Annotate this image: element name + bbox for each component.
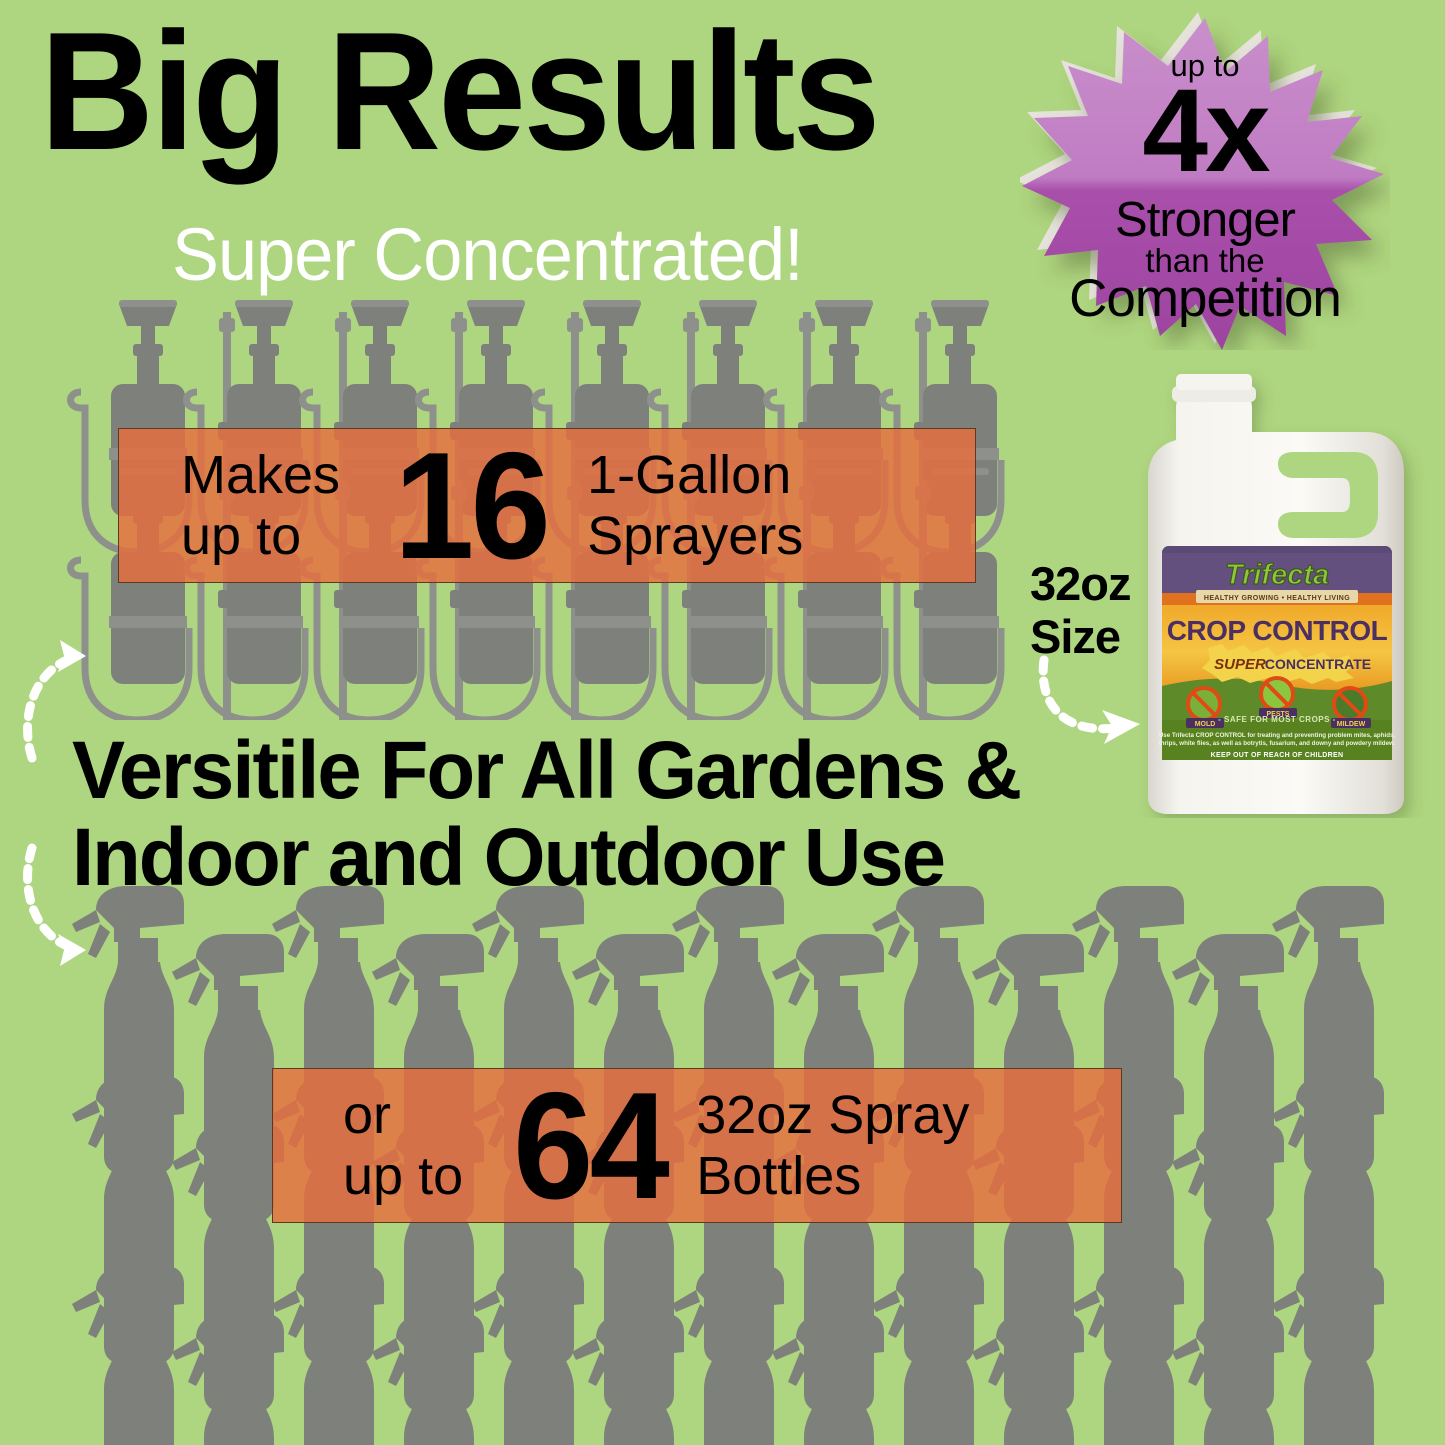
- banner-bottles-unit-line1: 32oz Spray: [696, 1085, 969, 1145]
- mid-headline-line1: Versitile For All Gardens &: [72, 728, 1020, 815]
- dashed-arrow-up-icon: [16, 636, 96, 766]
- dashed-arrow-down-icon: [16, 840, 96, 970]
- banner-sprayers-unit: 1-Gallon Sprayers: [587, 445, 803, 566]
- label-super: SUPER: [1214, 656, 1266, 673]
- label-badge-pests: PESTS: [1259, 678, 1297, 718]
- mid-headline-line2: Indoor and Outdoor Use: [72, 815, 1020, 902]
- product-bottle: Trifecta HEALTHY GROWING • HEALTHY LIVIN…: [1128, 368, 1428, 818]
- banner-bottles-unit-line2: Bottles: [696, 1146, 861, 1206]
- label-product-name: CROP CONTROL: [1167, 615, 1388, 646]
- label-warning: KEEP OUT OF REACH OF CHILDREN: [1211, 752, 1344, 759]
- svg-text:MOLD: MOLD: [1195, 721, 1216, 728]
- banner-sprayers-unit-line2: Sprayers: [587, 506, 803, 566]
- label-directions-2: thrips, white flies, as well as botrytis…: [1159, 740, 1396, 747]
- banner-bottles-line1: or: [343, 1085, 463, 1145]
- banner-sprayers-line2: up to: [181, 506, 340, 566]
- banner-sprayers-prefix: Makes up to: [181, 445, 340, 566]
- banner-bottles: or up to 64 32oz Spray Bottles: [272, 1068, 1122, 1223]
- label-directions-1: Use Trifecta CROP CONTROL for treating a…: [1159, 732, 1396, 739]
- label-safe-line: - SAFE FOR MOST CROPS -: [1218, 715, 1336, 724]
- page-title: Big Results: [40, 14, 878, 169]
- banner-sprayers-line1: Makes: [181, 445, 340, 505]
- burst-multiplier: 4x: [1020, 72, 1390, 190]
- banner-sprayers-unit-line1: 1-Gallon: [587, 445, 791, 505]
- banner-bottles-unit: 32oz Spray Bottles: [696, 1085, 969, 1206]
- size-caption: 32oz Size: [1030, 558, 1131, 663]
- banner-sprayers-number: 16: [394, 430, 547, 582]
- banner-bottles-line2: up to: [343, 1146, 463, 1206]
- svg-text:MILDEW: MILDEW: [1337, 721, 1366, 728]
- label-brand: Trifecta: [1225, 559, 1329, 591]
- starburst-badge: up to 4x Stronger than the Competition: [1020, 10, 1390, 350]
- size-caption-line1: 32oz: [1030, 558, 1131, 611]
- infographic-canvas: Big Results Super Concentrated! up to 4x: [0, 0, 1445, 1445]
- banner-sprayers: Makes up to 16 1-Gallon Sprayers: [118, 428, 976, 583]
- banner-bottles-prefix: or up to: [343, 1085, 463, 1206]
- label-concentrate: CONCENTRATE: [1265, 656, 1371, 672]
- dashed-arrow-right-icon: [1030, 652, 1160, 762]
- burst-stronger-label: Stronger: [1020, 192, 1390, 248]
- banner-bottles-number: 64: [513, 1070, 666, 1222]
- page-subtitle: Super Concentrated!: [172, 218, 803, 292]
- burst-competition-label: Competition: [1020, 268, 1390, 329]
- mid-headline: Versitile For All Gardens & Indoor and O…: [72, 728, 1020, 902]
- label-tagline: HEALTHY GROWING • HEALTHY LIVING: [1204, 595, 1350, 602]
